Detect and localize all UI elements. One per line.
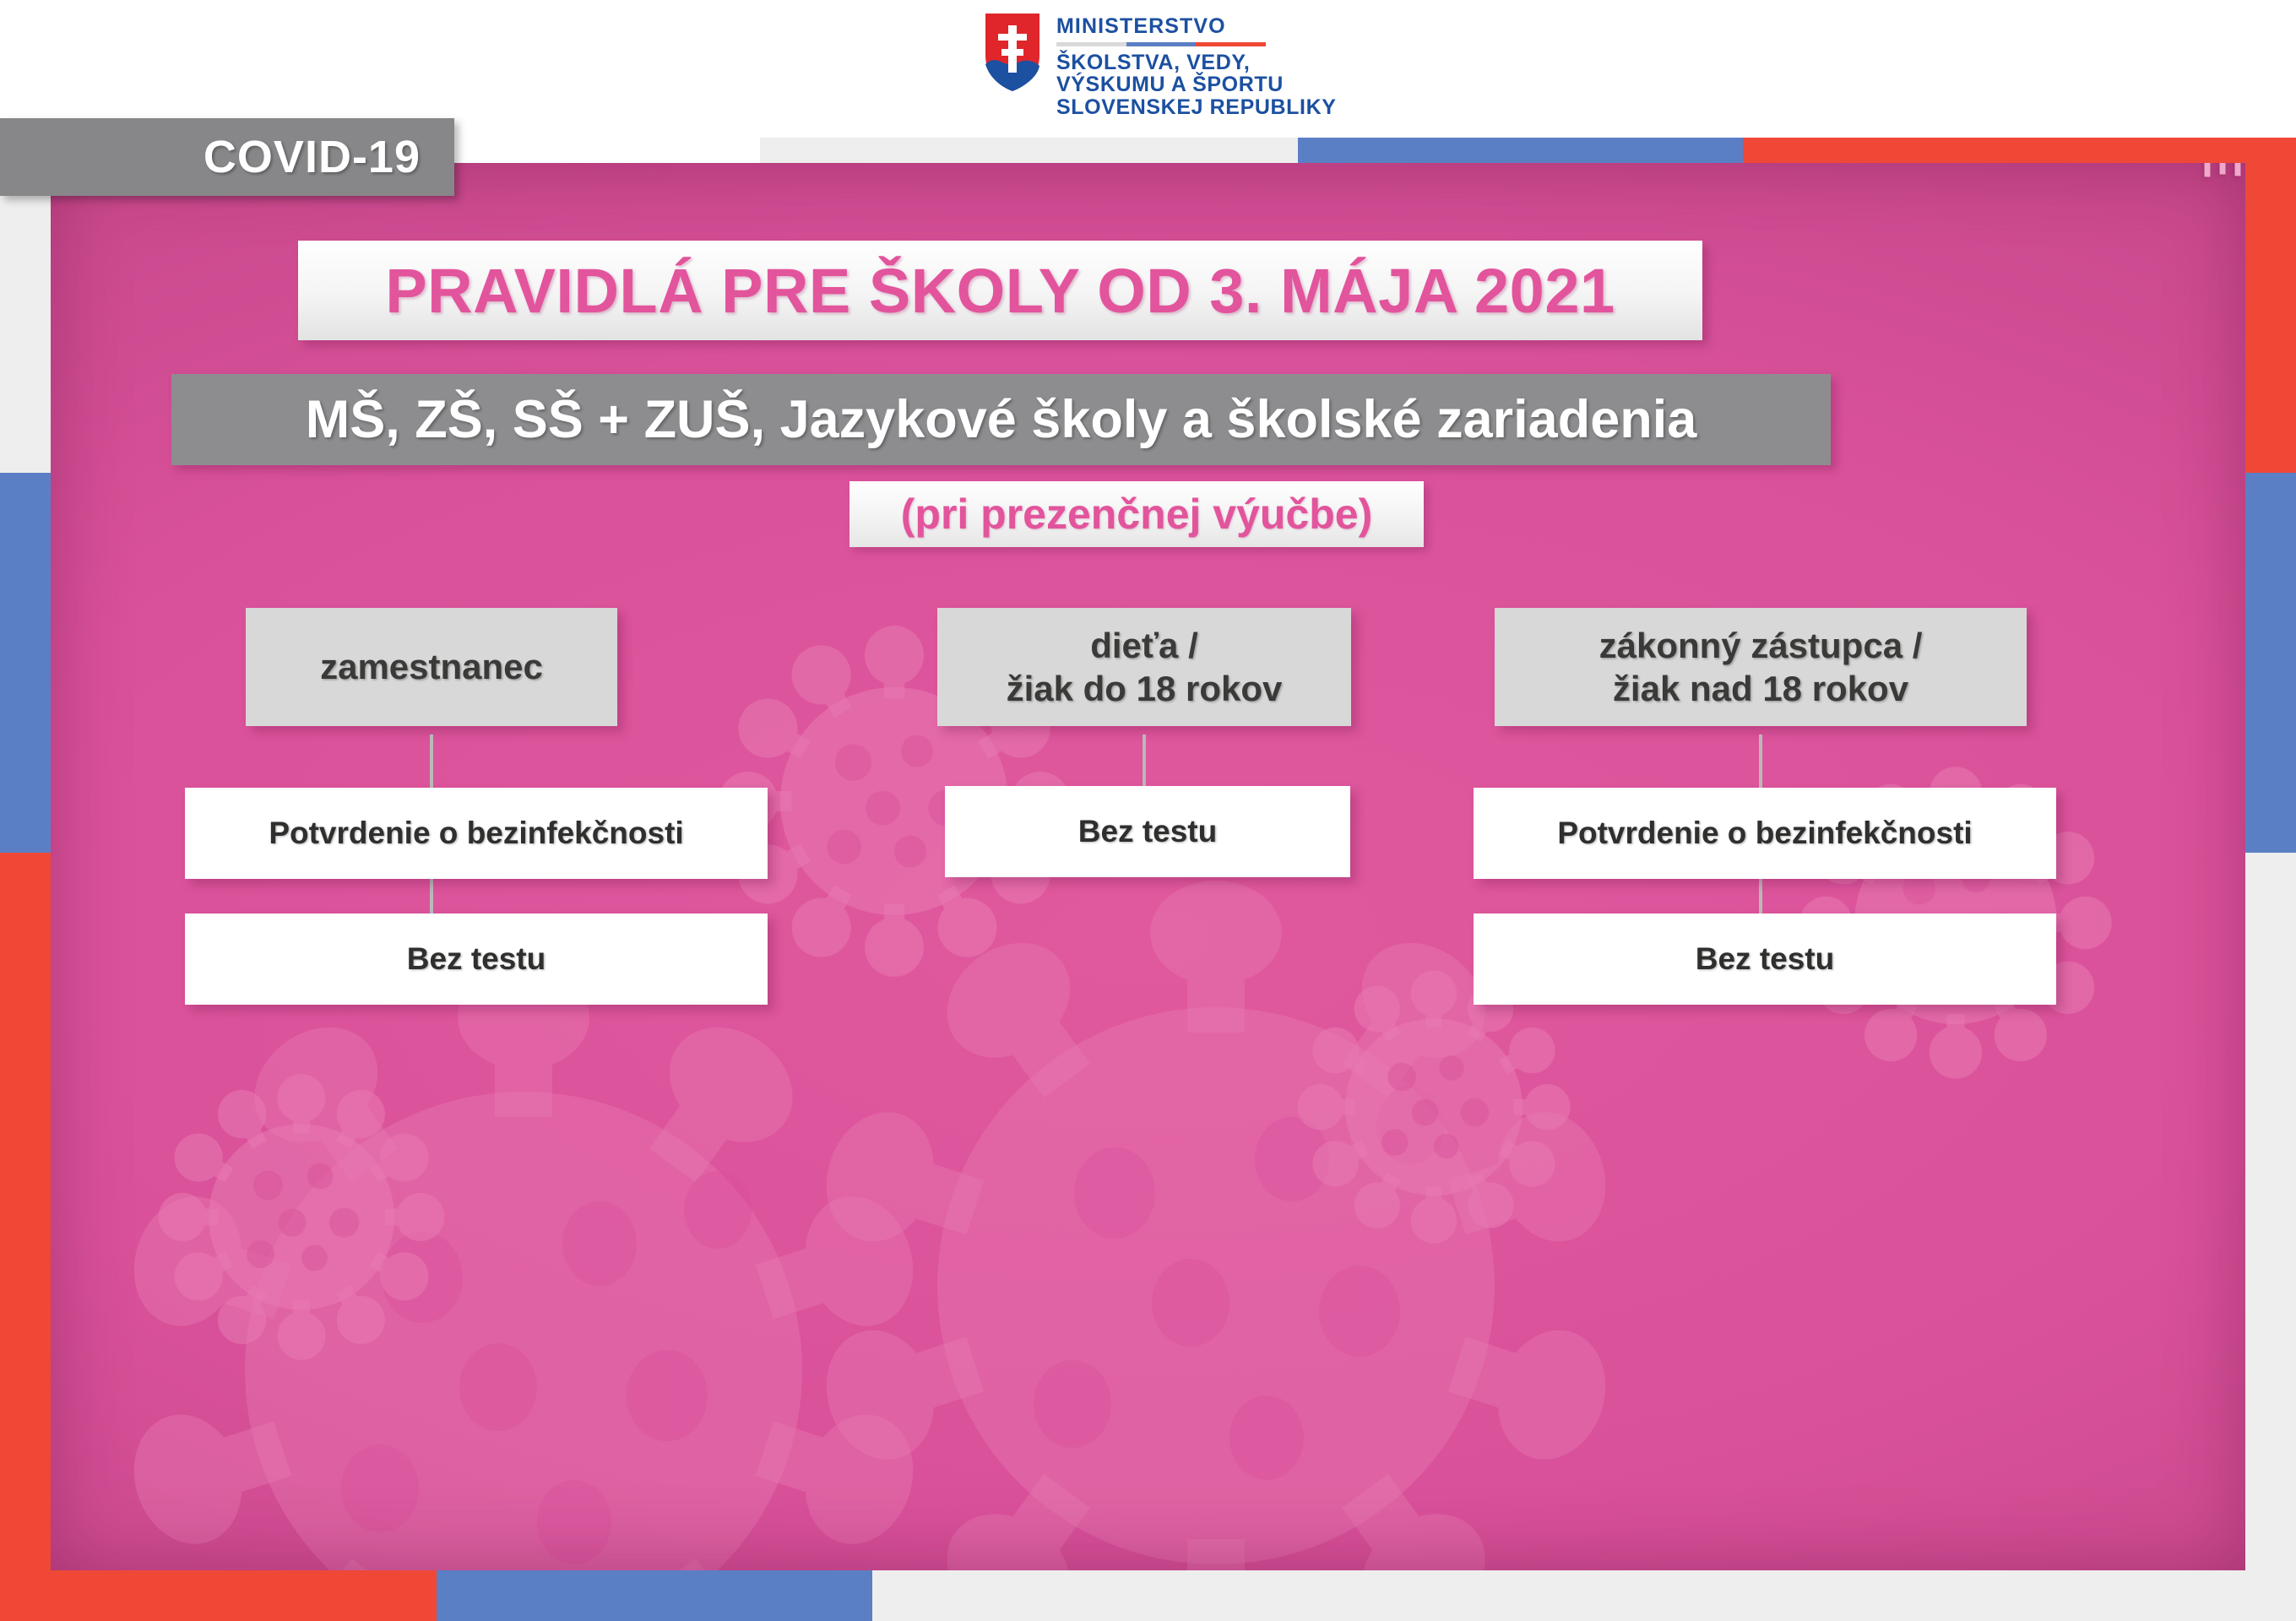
column-employee: zamestnanec Potvrdenie o bezinfekčnosti … bbox=[246, 608, 617, 726]
column-child-heading-text: dieťa / žiak do 18 rokov bbox=[1007, 624, 1283, 710]
column-guardian-heading-text: zákonný zástupca / žiak nad 18 rokov bbox=[1599, 624, 1923, 710]
column-guardian-cell-1-text: Potvrdenie o bezinfekčnosti bbox=[1557, 815, 1972, 852]
column-employee-cell-1: Potvrdenie o bezinfekčnosti bbox=[185, 788, 768, 879]
column-employee-heading-text: zamestnanec bbox=[320, 645, 543, 688]
column-employee-cell-2-text: Bez testu bbox=[407, 941, 546, 978]
column-guardian-cell-1: Potvrdenie o bezinfekčnosti bbox=[1474, 788, 2056, 879]
column-employee-heading: zamestnanec bbox=[246, 608, 617, 726]
column-employee-cell-2: Bez testu bbox=[185, 914, 768, 1005]
column-child-heading: dieťa / žiak do 18 rokov bbox=[937, 608, 1351, 726]
covid-19-badge-label: COVID-19 bbox=[204, 131, 421, 183]
column-child-cell-1-text: Bez testu bbox=[1078, 813, 1217, 850]
column-guardian: zákonný zástupca / žiak nad 18 rokov Pot… bbox=[1495, 608, 2027, 726]
column-child-cell-1: Bez testu bbox=[945, 786, 1350, 877]
column-guardian-cell-2-text: Bez testu bbox=[1696, 941, 1834, 978]
column-guardian-heading: zákonný zástupca / žiak nad 18 rokov bbox=[1495, 608, 2027, 726]
covid-19-badge: COVID-19 bbox=[0, 118, 454, 196]
rules-table: zamestnanec Potvrdenie o bezinfekčnosti … bbox=[0, 0, 2296, 1621]
column-child: dieťa / žiak do 18 rokov Bez testu bbox=[937, 608, 1351, 726]
column-employee-cell-1-text: Potvrdenie o bezinfekčnosti bbox=[269, 815, 683, 852]
column-guardian-cell-2: Bez testu bbox=[1474, 914, 2056, 1005]
